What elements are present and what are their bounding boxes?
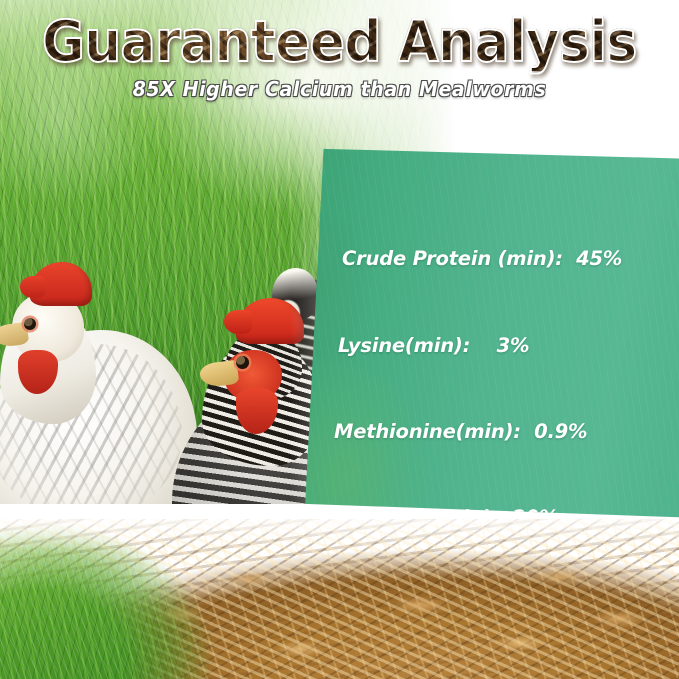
- white-hen-eye: [24, 318, 36, 330]
- page-title: Guaranteed Analysis: [42, 14, 637, 71]
- barred-hen-eye: [236, 356, 249, 369]
- list-item: Lysine(min): 3%: [296, 332, 679, 361]
- list-item: Crude Protein (min): 45%: [296, 245, 679, 274]
- list-item: Methionine(min): 0.9%: [296, 418, 679, 447]
- barred-hen-beak: [199, 360, 240, 388]
- headline-block: Guaranteed Analysis 85X Higher Calcium t…: [0, 14, 679, 134]
- guaranteed-analysis-panel: Crude Protein (min): 45% Lysine(min): 3%…: [296, 140, 679, 525]
- product-infographic: Guaranteed Analysis 85X Higher Calcium t…: [0, 0, 679, 679]
- page-subtitle: 85X Higher Calcium than Mealworms: [17, 77, 662, 101]
- white-hen-comb-icon: [30, 262, 92, 306]
- larvae-pile-photo: [0, 504, 679, 679]
